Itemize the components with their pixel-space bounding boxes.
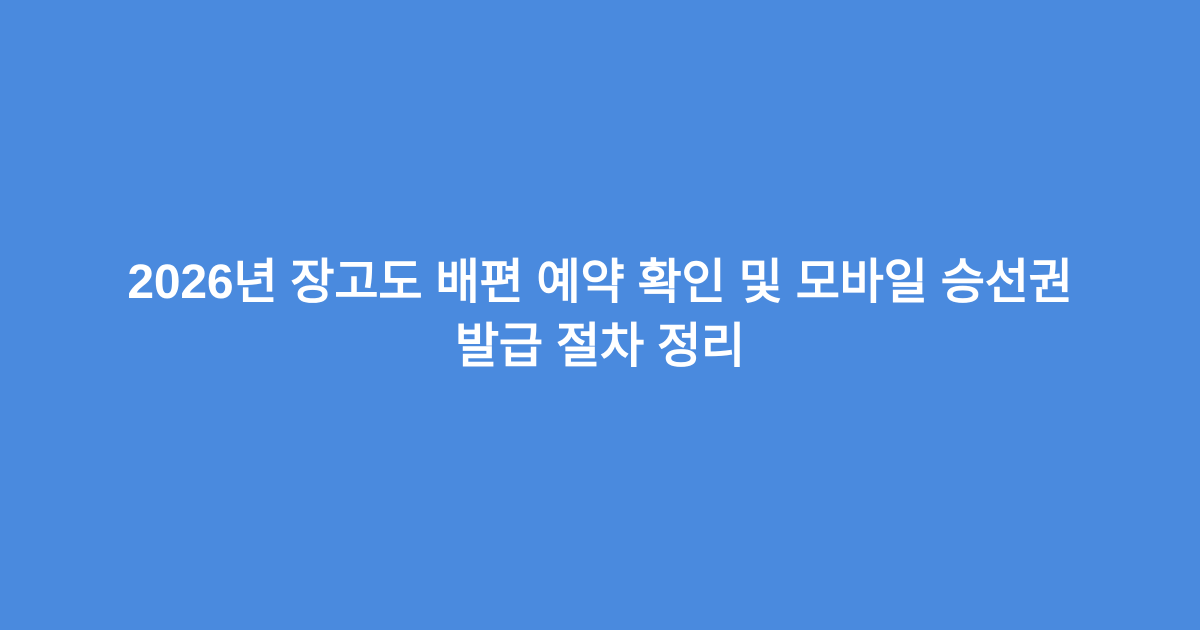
- og-card: 2026년 장고도 배편 예약 확인 및 모바일 승선권 발급 절차 정리: [0, 0, 1200, 630]
- page-title: 2026년 장고도 배편 예약 확인 및 모바일 승선권 발급 절차 정리: [80, 251, 1120, 379]
- og-card-content: 2026년 장고도 배편 예약 확인 및 모바일 승선권 발급 절차 정리: [80, 251, 1120, 379]
